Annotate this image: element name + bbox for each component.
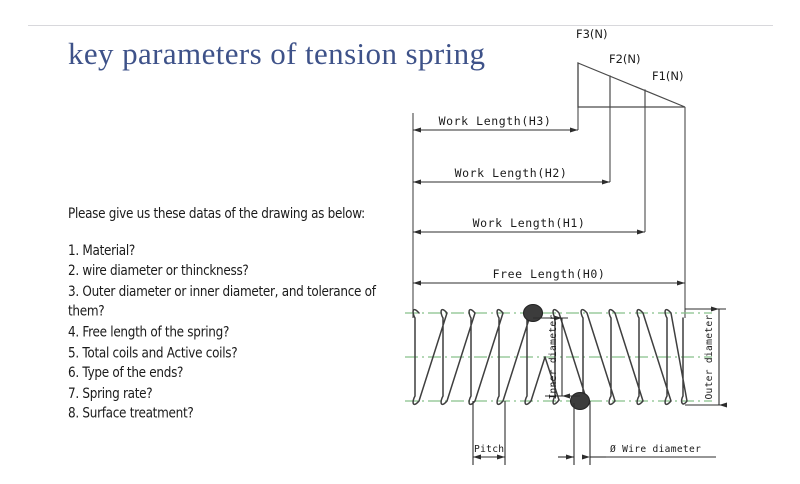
dim-label-h1: Work Length(H1): [473, 216, 586, 230]
inner-diameter-label: Inner diameter: [548, 314, 559, 399]
dim-label-h3: Work Length(H3): [439, 114, 552, 128]
wire-diameter-dimension: [558, 401, 716, 465]
force-label-f1: F1(N): [652, 69, 684, 83]
dim-label-h0: Free Length(H0): [493, 267, 606, 281]
pitch-dimension: [473, 401, 505, 465]
force-label-f2: F2(N): [609, 52, 641, 66]
wire-marker-bottom: [571, 393, 590, 410]
force-label-f3: F3(N): [576, 27, 608, 41]
dim-label-h2: Work Length(H2): [455, 166, 568, 180]
wire-marker-top: [524, 305, 543, 322]
pitch-label: Pitch: [474, 444, 504, 455]
tension-spring-technical-drawing: F3(N) F2(N) F1(N) Work Length(H3) Work L…: [0, 0, 800, 484]
outer-diameter-label: Outer diameter: [704, 314, 715, 399]
length-dimension-lines: [413, 130, 685, 283]
extension-lines: [413, 107, 685, 318]
slide-canvas: key parameters of tension spring Please …: [0, 0, 800, 484]
wire-diameter-label: Ø Wire diameter: [610, 443, 701, 455]
